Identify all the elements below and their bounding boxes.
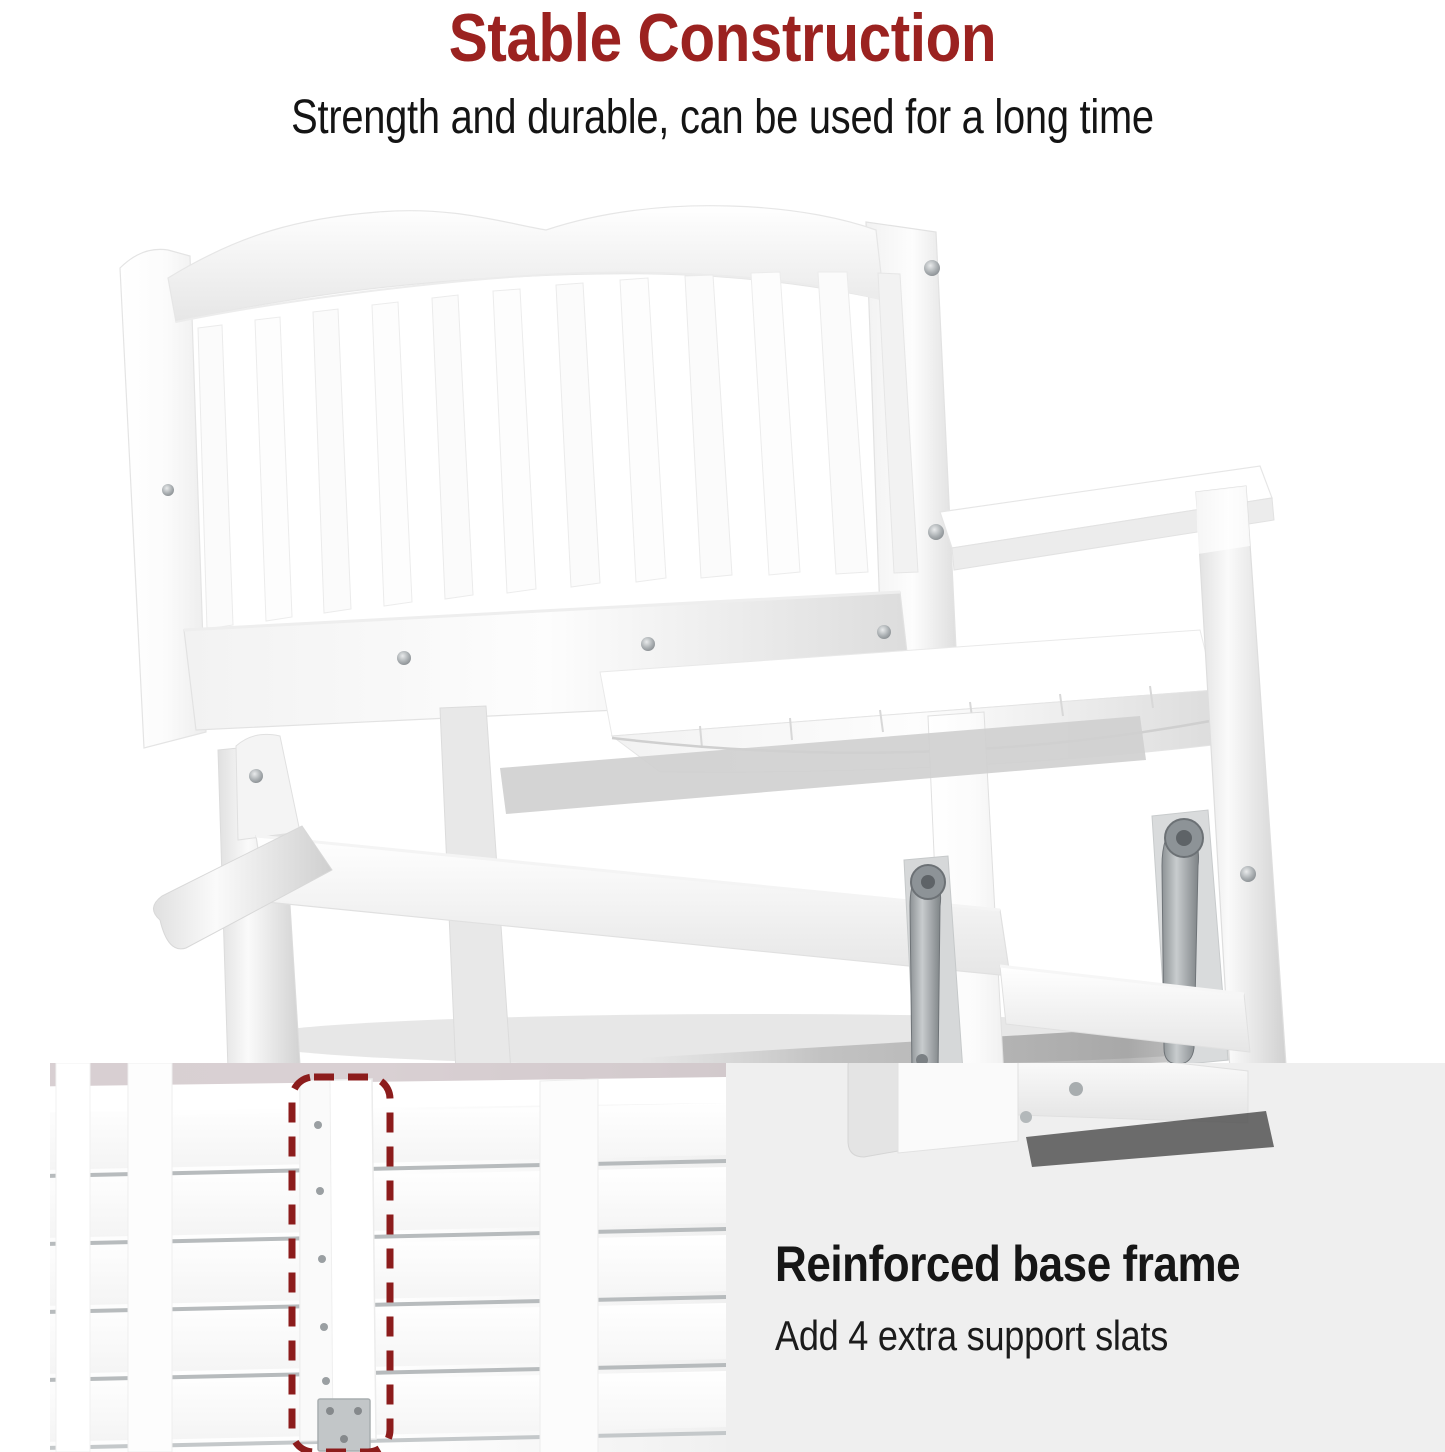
caption-subtitle: Add 4 extra support slats bbox=[775, 1315, 1168, 1357]
screw-icon bbox=[924, 260, 940, 276]
right-post bbox=[540, 1079, 598, 1452]
screw-icon bbox=[928, 524, 944, 540]
page-title: Stable Construction bbox=[101, 4, 1344, 72]
screw-icon bbox=[397, 651, 411, 665]
extra-support-slat bbox=[300, 1079, 376, 1451]
inset-detail-photo bbox=[0, 1063, 726, 1452]
hero-product-photo bbox=[0, 160, 1445, 1070]
bench-illustration bbox=[0, 160, 1445, 1070]
screw-icon bbox=[162, 484, 174, 496]
product-feature-page: Stable Construction Strength and durable… bbox=[0, 0, 1445, 1452]
screw-icon bbox=[322, 1377, 330, 1385]
bottom-band: Reinforced base frame Add 4 extra suppor… bbox=[0, 1063, 1445, 1452]
glider-arm-left bbox=[910, 872, 941, 1070]
screw-icon bbox=[320, 1323, 328, 1331]
screw-icon bbox=[1240, 866, 1256, 882]
metal-bracket bbox=[318, 1399, 370, 1451]
screw-icon bbox=[314, 1121, 322, 1129]
base-frame-closeup bbox=[0, 1063, 726, 1452]
screw-icon bbox=[316, 1187, 324, 1195]
caption-title: Reinforced base frame bbox=[775, 1239, 1240, 1289]
screw-icon bbox=[641, 637, 655, 651]
screw-icon bbox=[249, 769, 263, 783]
header-block: Stable Construction Strength and durable… bbox=[0, 0, 1445, 142]
screw-icon bbox=[318, 1255, 326, 1263]
screw-icon bbox=[877, 625, 891, 639]
caption-block: Reinforced base frame Add 4 extra suppor… bbox=[775, 1063, 1415, 1452]
page-subtitle: Strength and durable, can be used for a … bbox=[123, 94, 1322, 142]
